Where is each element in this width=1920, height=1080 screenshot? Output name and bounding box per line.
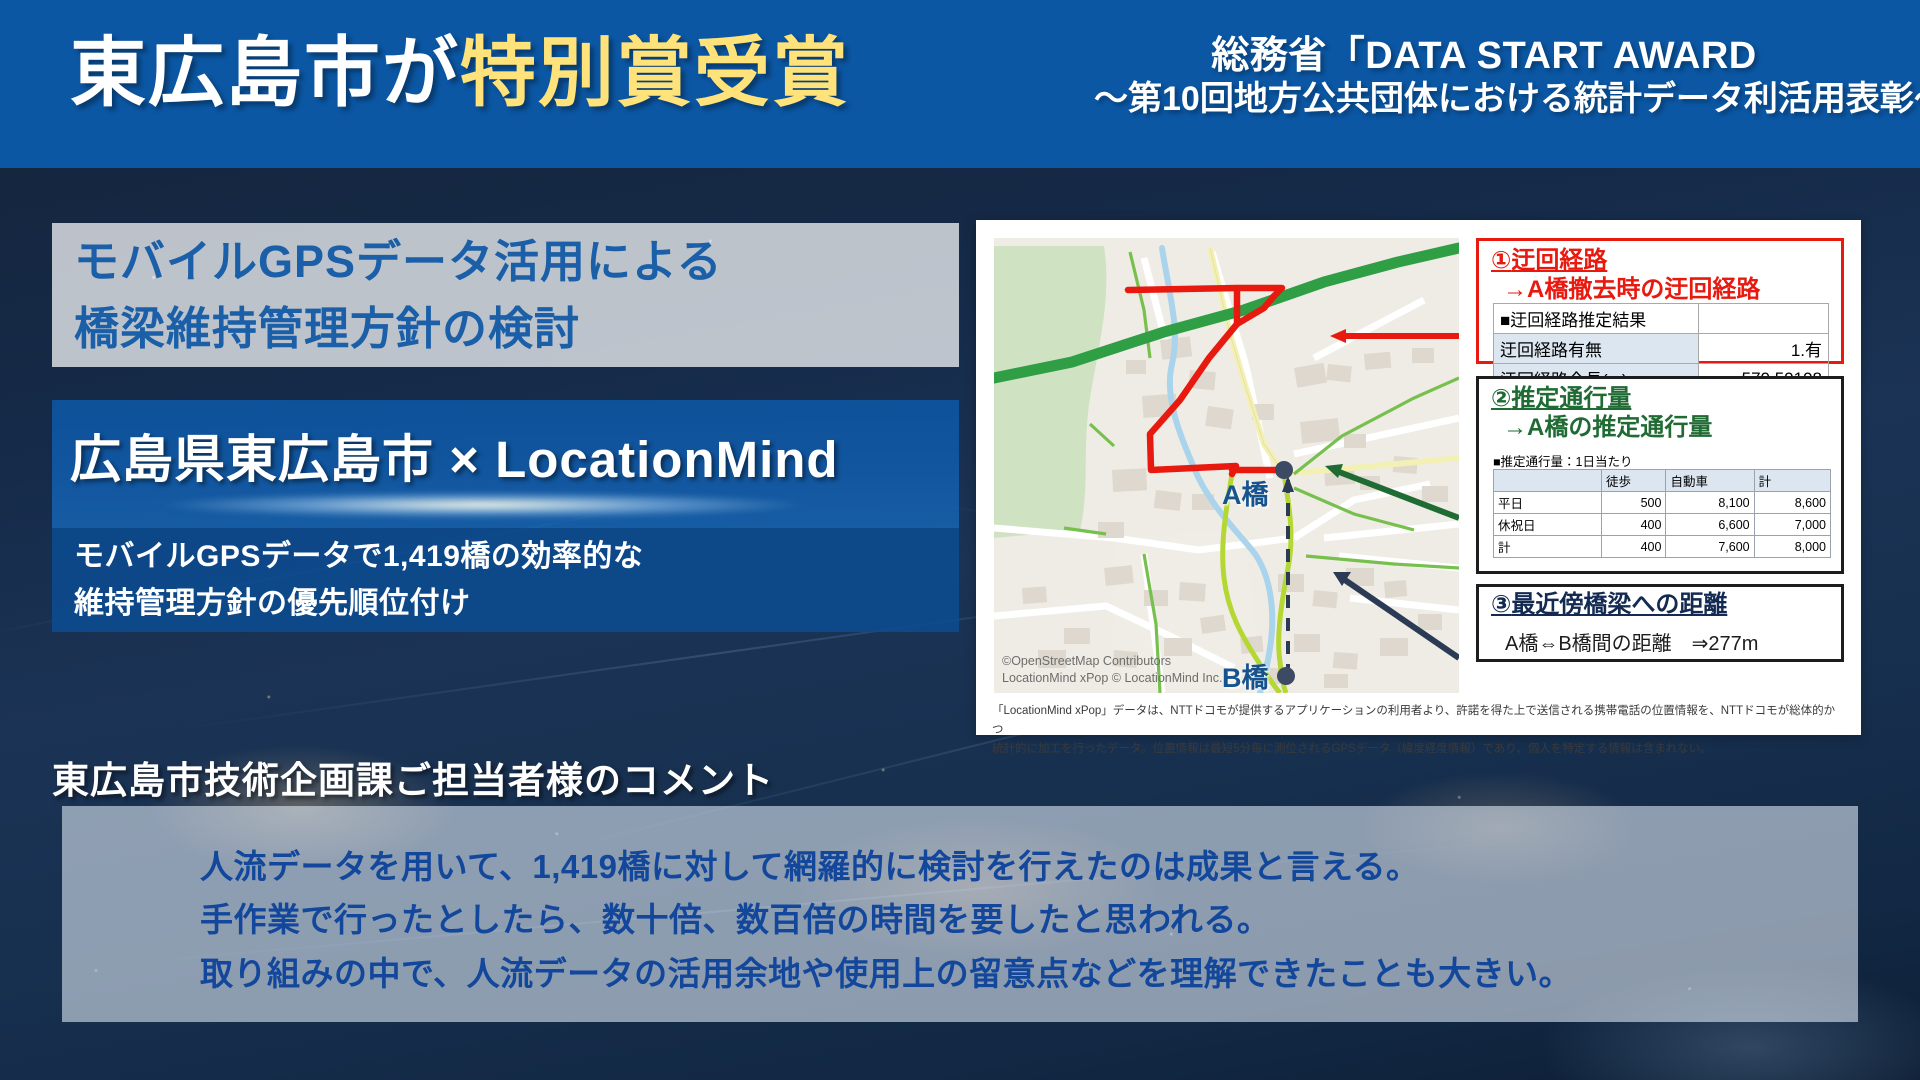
disclaimer-line-1: 「LocationMind xPop」データは、NTTドコモが提供するアプリケー… <box>992 702 1844 740</box>
summary-line-1: モバイルGPSデータで1,419橋の効率的な <box>74 534 643 581</box>
box1-subheading: →A橋撤去時の迂回経路 <box>1503 276 1760 303</box>
header-title-highlight: 特別賞受賞 <box>460 31 850 116</box>
box2-heading: ②推定通行量 →A橋の推定通行量 <box>1491 385 1712 443</box>
box2-subheading: →A橋の推定通行量 <box>1503 414 1712 441</box>
summary-line-2: 維持管理方針の優先順位付け <box>74 581 643 628</box>
project-title-line-1: モバイルGPSデータ活用による <box>74 229 723 296</box>
award-line-2: 〜第10回地方公共団体における統計データ利活用表彰〜」 <box>1094 79 1874 120</box>
table-row: 計 400 7,600 8,000 <box>1494 536 1831 558</box>
partner-band: 広島県東広島市 × LocationMind <box>52 400 959 528</box>
map-attribution: ©OpenStreetMap Contributors LocationMind… <box>1002 653 1222 687</box>
comment-line-1: 人流データを用いて、1,419橋に対して網羅的に検討を行えたのは成果と言える。 <box>200 840 1860 893</box>
project-title: モバイルGPSデータ活用による 橋梁維持管理方針の検討 <box>74 229 723 362</box>
nearest-bridge-distance-value: A橋⇔B橋間の距離 ⇒277m <box>1505 627 1758 656</box>
map-graphic <box>994 238 1459 693</box>
traffic-row-holiday-label: 休祝日 <box>1494 514 1602 536</box>
summary-band: モバイルGPSデータで1,419橋の効率的な 維持管理方針の優先順位付け <box>52 528 959 632</box>
traffic-weekday-walk: 500 <box>1602 492 1666 514</box>
traffic-total-car: 7,600 <box>1666 536 1754 558</box>
box3-heading: ③最近傍橋梁への距離 <box>1491 591 1727 620</box>
glow-decoration <box>162 492 802 518</box>
map-label-bridge-a: A橋 <box>1222 473 1269 512</box>
traffic-total-total: 8,000 <box>1754 536 1830 558</box>
detour-table-caption: ■迂回経路推定結果 <box>1494 304 1699 334</box>
traffic-holiday-walk: 400 <box>1602 514 1666 536</box>
project-title-card: モバイルGPSデータ活用による 橋梁維持管理方針の検討 <box>52 223 959 367</box>
box2-number-and-title: ②推定通行量 <box>1491 385 1631 412</box>
traffic-row-weekday-label: 平日 <box>1494 492 1602 514</box>
table-row: 迂回経路有無 1.有 <box>1494 334 1829 364</box>
data-disclaimer: 「LocationMind xPop」データは、NTTドコモが提供するアプリケー… <box>992 702 1844 759</box>
table-row: 平日 500 8,100 8,600 <box>1494 492 1831 514</box>
analysis-card: A橋 B橋 ©OpenStreetMap Contributors Locati… <box>976 220 1861 735</box>
traffic-col-blank <box>1494 470 1602 492</box>
box-detour-route: ①迂回経路 →A橋撤去時の迂回経路 ■迂回経路推定結果 迂回経路有無 1.有 迂… <box>1476 238 1844 364</box>
attribution-osm: ©OpenStreetMap Contributors <box>1002 653 1222 670</box>
comment-section-title: 東広島市技術企画課ご担当者様のコメント <box>52 750 774 804</box>
traffic-weekday-total: 8,600 <box>1754 492 1830 514</box>
comment-body: 人流データを用いて、1,419橋に対して網羅的に検討を行えたのは成果と言える。 … <box>200 840 1860 1000</box>
detour-table-caption-blank <box>1699 304 1829 334</box>
traffic-weekday-car: 8,100 <box>1666 492 1754 514</box>
attribution-locationmind: LocationMind xPop © LocationMind Inc. <box>1002 670 1222 687</box>
award-line-1: 総務省「DATA START AWARD <box>1094 34 1874 79</box>
traffic-holiday-car: 6,600 <box>1666 514 1754 536</box>
traffic-row-total-label: 計 <box>1494 536 1602 558</box>
project-title-line-2: 橋梁維持管理方針の検討 <box>74 296 723 363</box>
header-title: 東広島市が特別賞受賞 <box>70 26 850 121</box>
box1-number-and-title: ①迂回経路 <box>1491 247 1607 274</box>
page-header: 東広島市が特別賞受賞 総務省「DATA START AWARD 〜第10回地方公… <box>0 0 1920 168</box>
detour-exists-label: 迂回経路有無 <box>1494 334 1699 364</box>
box-nearest-bridge-distance: ③最近傍橋梁への距離 A橋⇔B橋間の距離 ⇒277m <box>1476 584 1844 662</box>
comment-line-2: 手作業で行ったとしたら、数十倍、数百倍の時間を要したと思われる。 <box>200 893 1860 946</box>
traffic-col-total: 計 <box>1754 470 1830 492</box>
traffic-table-caption: ■推定通行量：1日当たり <box>1493 451 1633 470</box>
traffic-col-car: 自動車 <box>1666 470 1754 492</box>
box3-number-and-title: ③最近傍橋梁への距離 <box>1491 591 1727 618</box>
slide-root: 東広島市が特別賞受賞 総務省「DATA START AWARD 〜第10回地方公… <box>0 0 1920 1080</box>
traffic-volume-table: 徒歩 自動車 計 平日 500 8,100 8,600 休祝日 400 <box>1493 469 1831 558</box>
partner-names: 広島県東広島市 × LocationMind <box>70 418 839 492</box>
summary-text: モバイルGPSデータで1,419橋の効率的な 維持管理方針の優先順位付け <box>74 534 643 627</box>
box1-heading: ①迂回経路 →A橋撤去時の迂回経路 <box>1491 247 1760 305</box>
traffic-total-walk: 400 <box>1602 536 1666 558</box>
table-row: 休祝日 400 6,600 7,000 <box>1494 514 1831 536</box>
comment-line-3: 取り組みの中で、人流データの活用余地や使用上の留意点などを理解できたことも大きい… <box>200 947 1860 1000</box>
disclaimer-line-2: 統計的に加工を行ったデータ。位置情報は最短5分毎に測位されるGPSデータ（緯度経… <box>992 740 1844 759</box>
table-header-row: 徒歩 自動車 計 <box>1494 470 1831 492</box>
map-panel[interactable]: A橋 B橋 ©OpenStreetMap Contributors Locati… <box>994 238 1459 693</box>
map-label-bridge-b: B橋 <box>1222 656 1269 693</box>
traffic-holiday-total: 7,000 <box>1754 514 1830 536</box>
award-name: 総務省「DATA START AWARD 〜第10回地方公共団体における統計デー… <box>1094 34 1874 120</box>
traffic-col-walk: 徒歩 <box>1602 470 1666 492</box>
header-title-plain: 東広島市が <box>70 31 460 116</box>
detour-exists-value: 1.有 <box>1699 334 1829 364</box>
box-estimated-traffic: ②推定通行量 →A橋の推定通行量 ■推定通行量：1日当たり 徒歩 自動車 計 平… <box>1476 376 1844 574</box>
